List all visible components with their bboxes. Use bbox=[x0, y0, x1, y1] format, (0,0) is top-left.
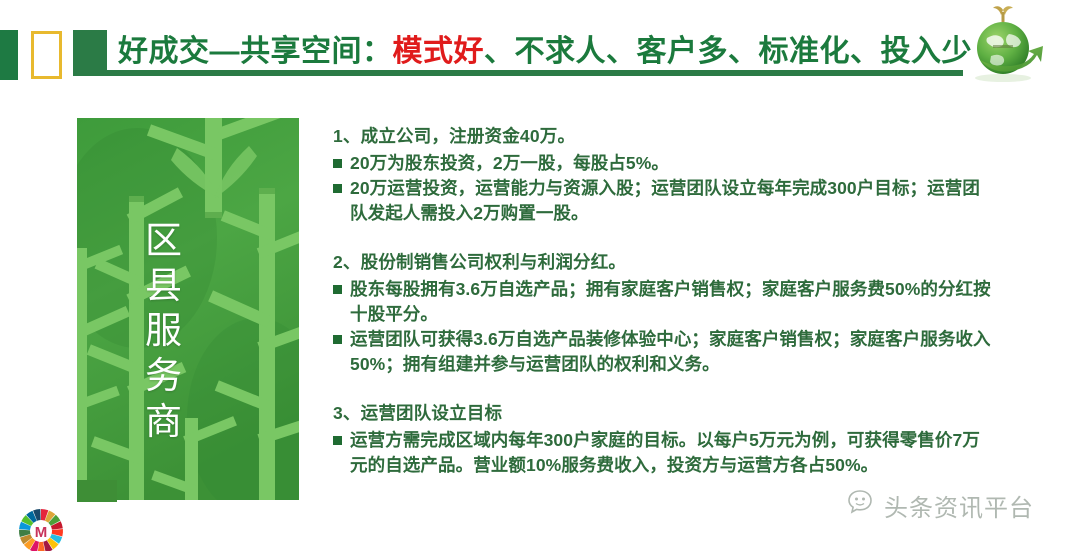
bullet-text: 20万运营投资，运营能力与资源入股；运营团队设立每年完成300户目标；运营团队发… bbox=[350, 178, 980, 223]
watermark-text: 头条资讯平台 bbox=[884, 488, 1034, 523]
green-earth-logo-icon bbox=[960, 4, 1046, 84]
presentation-slide: 好成交—共享空间：模式好、不求人、客户多、标准化、投入少 bbox=[0, 0, 1080, 551]
title-segment-green-2: 、不求人、客户多、标准化、投入少 bbox=[484, 35, 972, 68]
section-heading: 3、运营团队设立目标 bbox=[333, 401, 993, 426]
slide-body-content: 1、成立公司，注册资金40万。 20万为股东投资，2万一股，每股占5%。 20万… bbox=[333, 124, 993, 478]
section-heading: 2、股份制销售公司权利与利润分红。 bbox=[333, 250, 993, 275]
wechat-ghost-icon bbox=[848, 489, 878, 522]
header-gold-square-icon bbox=[31, 31, 62, 79]
bullet-square-icon bbox=[333, 285, 342, 294]
content-section-1: 1、成立公司，注册资金40万。 20万为股东投资，2万一股，每股占5%。 20万… bbox=[333, 124, 993, 226]
bullet-square-icon bbox=[333, 159, 342, 168]
sdg-wheel-m-logo-icon: M bbox=[18, 508, 64, 551]
bullet-square-icon bbox=[333, 436, 342, 445]
bullet-text: 运营团队可获得3.6万自选产品装修体验中心；家庭客户销售权；家庭客户服务收入50… bbox=[350, 329, 991, 374]
section-heading: 1、成立公司，注册资金40万。 bbox=[333, 124, 993, 149]
section-spacer bbox=[333, 377, 993, 401]
section-bullet: 运营团队可获得3.6万自选产品装修体验中心；家庭客户销售权；家庭客户服务收入50… bbox=[333, 327, 993, 377]
bullet-text: 股东每股拥有3.6万自选产品；拥有家庭客户销售权；家庭客户服务费50%的分红按十… bbox=[350, 279, 991, 324]
content-section-2: 2、股份制销售公司权利与利润分红。 股东每股拥有3.6万自选产品；拥有家庭客户销… bbox=[333, 250, 993, 377]
section-bullet: 20万运营投资，运营能力与资源入股；运营团队设立每年完成300户目标；运营团队发… bbox=[333, 176, 993, 226]
district-service-provider-image: 区县服务商 bbox=[77, 118, 299, 500]
title-segment-green-1: 好成交—共享空间： bbox=[118, 35, 393, 68]
bullet-square-icon bbox=[333, 184, 342, 193]
bullet-square-icon bbox=[333, 335, 342, 344]
svg-text:M: M bbox=[35, 524, 48, 541]
watermark: 头条资讯平台 bbox=[848, 488, 1034, 523]
left-panel-caption: 区县服务商 bbox=[139, 218, 189, 444]
section-bullet: 股东每股拥有3.6万自选产品；拥有家庭客户销售权；家庭客户服务费50%的分红按十… bbox=[333, 277, 993, 327]
page-title: 好成交—共享空间：模式好、不求人、客户多、标准化、投入少 bbox=[118, 30, 972, 74]
section-bullet: 20万为股东投资，2万一股，每股占5%。 bbox=[333, 151, 993, 176]
content-section-3: 3、运营团队设立目标 运营方需完成区域内每年300户家庭的目标。以每户5万元为例… bbox=[333, 401, 993, 478]
section-bullet: 运营方需完成区域内每年300户家庭的目标。以每户5万元为例，可获得零售价7万元的… bbox=[333, 428, 993, 478]
bullet-text: 运营方需完成区域内每年300户家庭的目标。以每户5万元为例，可获得零售价7万元的… bbox=[350, 430, 980, 475]
title-segment-red: 模式好 bbox=[393, 35, 485, 68]
section-spacer bbox=[333, 226, 993, 250]
header-accent-block-left bbox=[0, 30, 18, 80]
bullet-text: 20万为股东投资，2万一股，每股占5%。 bbox=[350, 153, 669, 173]
header-accent-block-mid bbox=[73, 30, 107, 75]
footer-accent-block bbox=[77, 480, 117, 502]
